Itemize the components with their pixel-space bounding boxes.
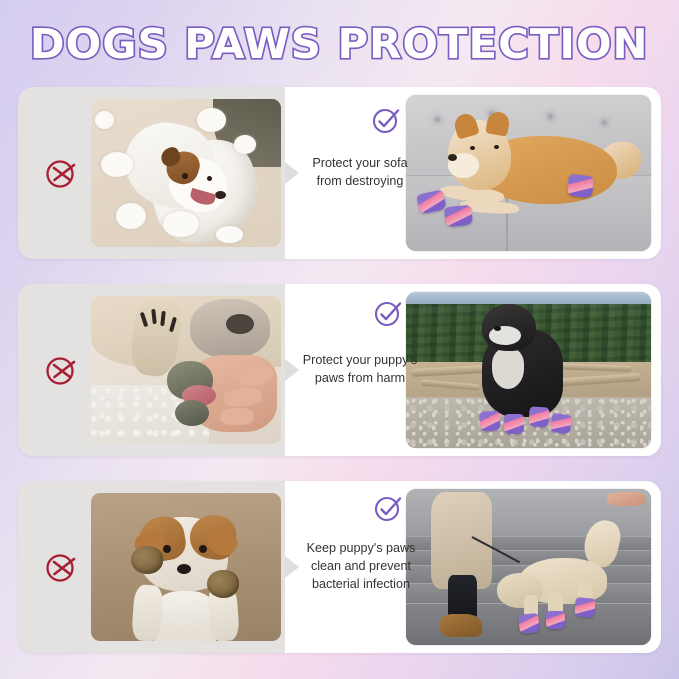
benefit-caption: Protect your puppy's paws from harm (299, 352, 421, 388)
circle-check-icon (371, 105, 401, 135)
before-photo-dog-shredded-pillow (91, 99, 281, 247)
arrow-right-icon (285, 359, 299, 381)
circle-x-icon (44, 353, 78, 387)
after-photo-poodle-on-steps (406, 489, 651, 645)
circle-check-icon (373, 298, 403, 328)
before-panel (18, 284, 285, 456)
after-panel: Keep puppy's paws clean and prevent bact… (285, 481, 661, 653)
benefit-row: Keep puppy's paws clean and prevent bact… (18, 481, 661, 653)
arrow-right-icon (285, 162, 299, 184)
after-photo-dog-on-rocky-shore (406, 292, 651, 448)
product-infographic-poster: DOGS PAWS PROTECTION (0, 0, 679, 679)
before-photo-muddy-paws (91, 493, 281, 641)
after-photo-akita-on-sofa (406, 95, 651, 251)
dog-boot (504, 414, 524, 434)
before-panel (18, 87, 285, 259)
dog-boot (567, 173, 594, 197)
dog-boot (549, 412, 571, 433)
after-panel: Protect your puppy's paws from harm (285, 284, 661, 456)
poster-title-container: DOGS PAWS PROTECTION (0, 16, 679, 72)
dog-boot (574, 597, 595, 617)
benefit-caption: Keep puppy's paws clean and prevent bact… (297, 540, 425, 594)
benefit-row: Protect your sofa from destroying (18, 87, 661, 259)
dog-boot (528, 407, 549, 429)
dog-boot (518, 613, 539, 634)
before-panel (18, 481, 285, 653)
circle-x-icon (44, 156, 78, 190)
circle-x-icon (44, 550, 78, 584)
before-photo-injured-paw (91, 296, 281, 444)
after-panel: Protect your sofa from destroying (285, 87, 661, 259)
circle-check-icon (373, 493, 403, 523)
dog-boot (546, 611, 566, 630)
benefit-row: Protect your puppy's paws from harm (18, 284, 661, 456)
page-title: DOGS PAWS PROTECTION (30, 24, 649, 65)
arrow-right-icon (285, 556, 299, 578)
dog-boot (444, 204, 473, 227)
benefit-caption: Protect your sofa from destroying (299, 155, 421, 191)
dog-boot (478, 410, 500, 432)
